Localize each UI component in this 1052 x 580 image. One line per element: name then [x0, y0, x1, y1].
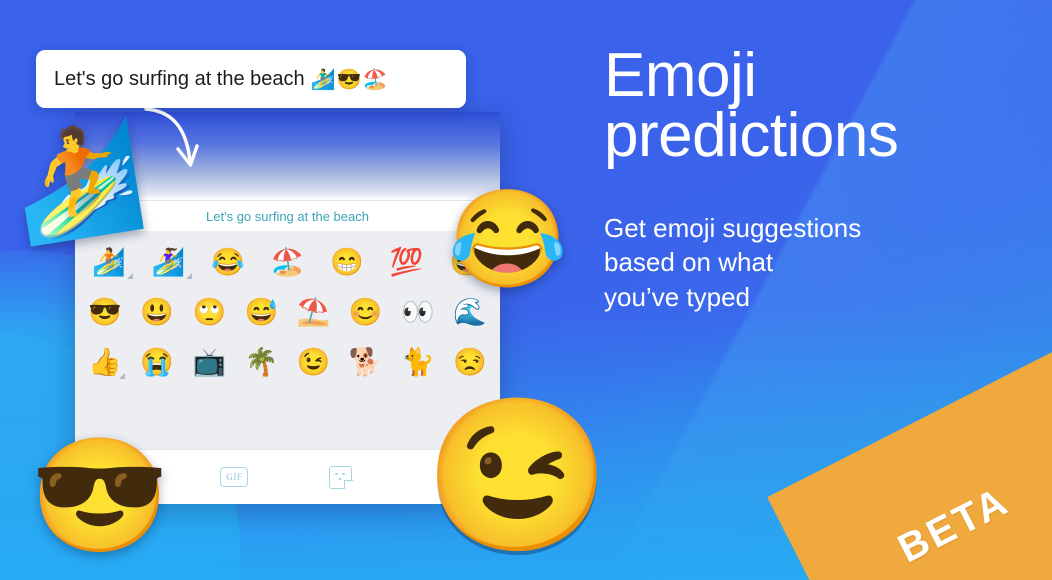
emoji-key-hundred-points[interactable]: 💯 [377, 237, 437, 287]
title-line-2: predictions [604, 106, 1034, 166]
wink-sticker: 😉 [424, 400, 611, 550]
marketing-copy: Emoji predictions Get emoji suggestions … [604, 46, 1034, 314]
emoji-key-face-with-tears-of-joy[interactable]: 😂 [198, 237, 258, 287]
emoji-key-grinning-face-big-eyes[interactable]: 😃 [131, 287, 183, 337]
emoji-key-surfer-man[interactable]: 🏄 [79, 237, 139, 287]
page-subtitle: Get emoji suggestions based on what you’… [604, 211, 1034, 314]
emoji-key-beach-with-umbrella[interactable]: 🏖️ [258, 237, 318, 287]
emoji-key-television[interactable]: 📺 [183, 337, 235, 387]
emoji-key-smiling-face-smiling-eyes[interactable]: 😊 [340, 287, 392, 337]
emoji-key-eyes[interactable]: 👀 [392, 287, 444, 337]
joy-sticker: 😂 [448, 192, 568, 288]
subtitle-line-2: based on what [604, 245, 1034, 279]
emoji-key-beaming-face[interactable]: 😁 [317, 237, 377, 287]
emoji-key-loudly-crying-face[interactable]: 😭 [131, 337, 183, 387]
emoji-key-umbrella-on-ground[interactable]: ⛱️ [288, 287, 340, 337]
callout-text: Let's go surfing at the beach [54, 68, 305, 91]
gif-icon: GIF [220, 467, 248, 487]
emoji-key-smiling-face-with-sunglasses[interactable]: 😎 [79, 287, 131, 337]
page-title: Emoji predictions [604, 46, 1034, 165]
emoji-key-cat[interactable]: 🐈 [392, 337, 444, 387]
emoji-row-1: 🏄🏄‍♀️😂🏖️😁💯😆 [79, 237, 496, 287]
emoji-key-surfer-woman[interactable]: 🏄‍♀️ [139, 237, 199, 287]
curved-arrow-down-icon [140, 105, 220, 185]
emoji-key-palm-tree[interactable]: 🌴 [235, 337, 287, 387]
suggestion-text: Let's go surfing at the beach [206, 209, 369, 224]
emoji-row-2: 😎😃🙄😅⛱️😊👀🌊 [79, 287, 496, 337]
gif-tab[interactable]: GIF [181, 450, 287, 504]
emoji-row-3: 👍😭📺🌴😉🐕🐈😒 [79, 337, 496, 387]
emoji-key-unamused-face[interactable]: 😒 [444, 337, 496, 387]
emoji-key-face-with-rolling-eyes[interactable]: 🙄 [183, 287, 235, 337]
emoji-key-grinning-face-with-sweat[interactable]: 😅 [235, 287, 287, 337]
callout-emoji: 🏄‍♂️😎🏖️ [311, 67, 389, 92]
sticker-tab[interactable] [288, 450, 394, 504]
subtitle-line-3: you’ve typed [604, 280, 1034, 314]
title-line-1: Emoji [604, 41, 757, 110]
surfer-sticker: 🏄 [7, 121, 151, 244]
emoji-key-water-wave[interactable]: 🌊 [444, 287, 496, 337]
cool-sticker: 😎 [30, 440, 169, 552]
sticker-icon [329, 466, 352, 489]
emoji-key-winking-face[interactable]: 😉 [288, 337, 340, 387]
subtitle-line-1: Get emoji suggestions [604, 211, 1034, 245]
emoji-key-thumbs-up[interactable]: 👍 [79, 337, 131, 387]
promo-banner: Let's go surfing at the beach 🏄🏄‍♀️😂🏖️😁💯… [0, 0, 1052, 580]
callout-bubble: Let's go surfing at the beach 🏄‍♂️😎🏖️ [36, 50, 466, 108]
emoji-key-dog[interactable]: 🐕 [340, 337, 392, 387]
